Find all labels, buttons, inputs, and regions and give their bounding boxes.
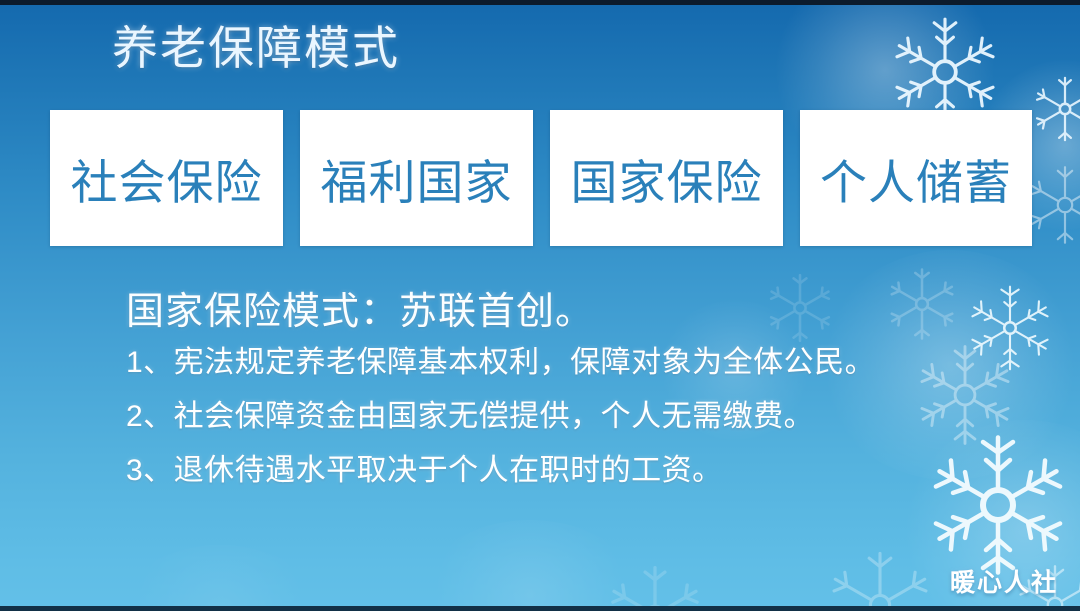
frost-blob (120, 545, 320, 611)
snowflake-icon (910, 340, 1020, 450)
section-subtitle: 国家保险模式：苏联首创。 (126, 280, 594, 335)
category-box-state-insurance[interactable]: 国家保险 (550, 110, 783, 246)
category-label: 个人储蓄 (820, 144, 1012, 213)
category-box-social-insurance[interactable]: 社会保险 (50, 110, 283, 246)
snowflake-icon (962, 280, 1058, 376)
bullet-item: 2、社会保障资金由国家无偿提供，个人无需缴费。 (126, 402, 875, 432)
category-box-welfare-state[interactable]: 福利国家 (300, 110, 533, 246)
bullet-item: 3、退休待遇水平取决于个人在职时的工资。 (126, 456, 875, 486)
frost-blob (420, 520, 640, 611)
page-title: 养老保障模式 (112, 22, 400, 75)
snowflake-icon (820, 545, 940, 611)
bottom-rail (0, 606, 1080, 611)
snowflake-icon (600, 560, 710, 611)
category-label: 福利国家 (321, 144, 513, 213)
snowflake-icon (880, 262, 964, 346)
category-box-row: 社会保险 福利国家 国家保险 个人储蓄 (50, 110, 1032, 246)
watermark-logo: 暖心人社 (950, 563, 1058, 599)
snowflake-icon (1028, 72, 1080, 146)
bullet-list: 1、宪法规定养老保障基本权利，保障对象为全体公民。 2、社会保障资金由国家无偿提… (126, 348, 875, 486)
snowflake-icon (923, 430, 1073, 580)
category-label: 国家保险 (571, 144, 763, 213)
snowflake-icon (760, 268, 840, 348)
category-label: 社会保险 (71, 144, 263, 213)
top-rail (0, 0, 1080, 5)
category-box-personal-savings[interactable]: 个人储蓄 (800, 110, 1032, 246)
slide-canvas: 养老保障模式 社会保险 福利国家 国家保险 个人储蓄 国家保险模式：苏联首创。 … (0, 0, 1080, 611)
bullet-item: 1、宪法规定养老保障基本权利，保障对象为全体公民。 (126, 348, 875, 378)
